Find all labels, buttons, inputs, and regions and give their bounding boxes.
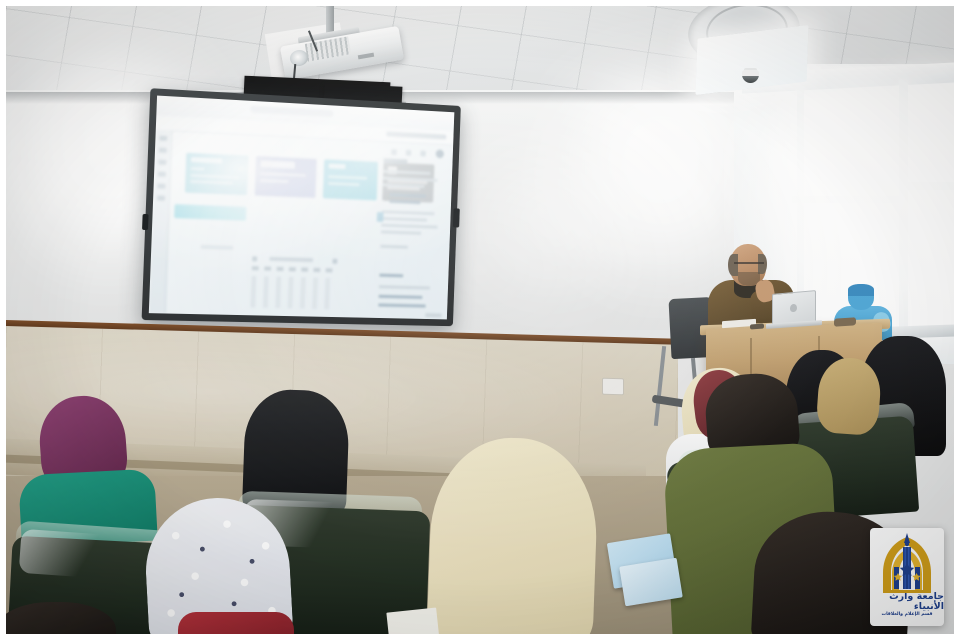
- glasses-icon: [734, 262, 764, 271]
- calendar-month-label: [269, 257, 313, 262]
- panel-line: [381, 217, 427, 222]
- calendar-prev-icon[interactable]: [252, 256, 257, 261]
- footer-label: [425, 313, 441, 317]
- desk-object: [750, 324, 764, 330]
- wall-outlet: [602, 378, 624, 396]
- whiteboard-side-button[interactable]: [142, 214, 149, 230]
- card-line: [260, 172, 306, 177]
- logo-mark-icon: [877, 533, 937, 595]
- calendar-widget[interactable]: [250, 256, 337, 311]
- sidebar-icon[interactable]: [158, 160, 166, 165]
- window-mullion-vertical: [899, 80, 908, 338]
- logo-subtitle: قسم الإعلام والعلاقات: [881, 613, 932, 618]
- card-line: [191, 167, 205, 171]
- search-icon[interactable]: [391, 149, 397, 155]
- calendar-next-icon[interactable]: [333, 259, 338, 264]
- card-line: [328, 175, 367, 180]
- card-title: [191, 157, 222, 163]
- card-line: [328, 182, 360, 186]
- dashboard-card[interactable]: [255, 156, 317, 198]
- panel-marker: [377, 212, 384, 222]
- card-line: [190, 180, 233, 185]
- window-mullion-horizontal: [908, 182, 954, 190]
- panel-line: [382, 210, 435, 215]
- sidebar-icon[interactable]: [157, 195, 165, 200]
- panel-bullet: [389, 200, 420, 204]
- lecture-hall-scene: جامعة وارث الأنبياء قسم الإعلام والعلاقا…: [6, 6, 954, 634]
- projected-dashboard: [149, 96, 455, 320]
- dashboard-card[interactable]: [323, 159, 378, 200]
- card-line: [190, 174, 239, 179]
- section-label: [200, 245, 233, 250]
- photograph: جامعة وارث الأنبياء قسم الإعلام والعلاقا…: [0, 0, 960, 640]
- toolbar-icon[interactable]: [406, 150, 412, 156]
- calendar-weekday-row: [252, 266, 337, 272]
- panel-line: [383, 177, 438, 182]
- calendar-date-grid[interactable]: [250, 276, 336, 309]
- panel-bullet: [379, 274, 403, 278]
- card-title: [329, 163, 346, 169]
- panel-line: [380, 245, 408, 249]
- user-avatar[interactable]: [436, 149, 444, 158]
- highlight-strip[interactable]: [174, 204, 246, 221]
- panel-heading: [383, 158, 407, 164]
- panel-bullet: [390, 193, 426, 197]
- sidebar-icon[interactable]: [157, 183, 165, 188]
- sidebar-icon[interactable]: [159, 148, 167, 153]
- sidebar-icon[interactable]: [159, 136, 167, 141]
- sidebar-icon[interactable]: [158, 172, 166, 177]
- whiteboard-side-button[interactable]: [453, 208, 460, 227]
- university-logo: جامعة وارث الأنبياء قسم الإعلام والعلاقا…: [870, 528, 944, 626]
- handout-paper: [386, 607, 439, 634]
- attendee-hair: [848, 284, 874, 296]
- window-mullion-horizontal: [792, 196, 902, 203]
- whiteboard-screen[interactable]: [149, 96, 455, 320]
- interactive-whiteboard[interactable]: [142, 88, 461, 326]
- panel-line: [379, 285, 430, 289]
- panel-line: [383, 183, 425, 188]
- toolbar-icon[interactable]: [420, 151, 426, 157]
- attendee-red-garment: [178, 612, 294, 634]
- panel-bullet: [378, 304, 426, 308]
- panel-line: [381, 224, 437, 229]
- panel-bullet: [379, 295, 423, 299]
- card-line: [260, 179, 289, 183]
- dashboard-card[interactable]: [185, 153, 249, 195]
- panel-line: [381, 230, 421, 234]
- card-title: [260, 160, 294, 168]
- desk-object: [834, 317, 856, 327]
- window-pane: [910, 84, 954, 332]
- panel-line: [383, 170, 430, 175]
- right-text-panel: [378, 158, 447, 311]
